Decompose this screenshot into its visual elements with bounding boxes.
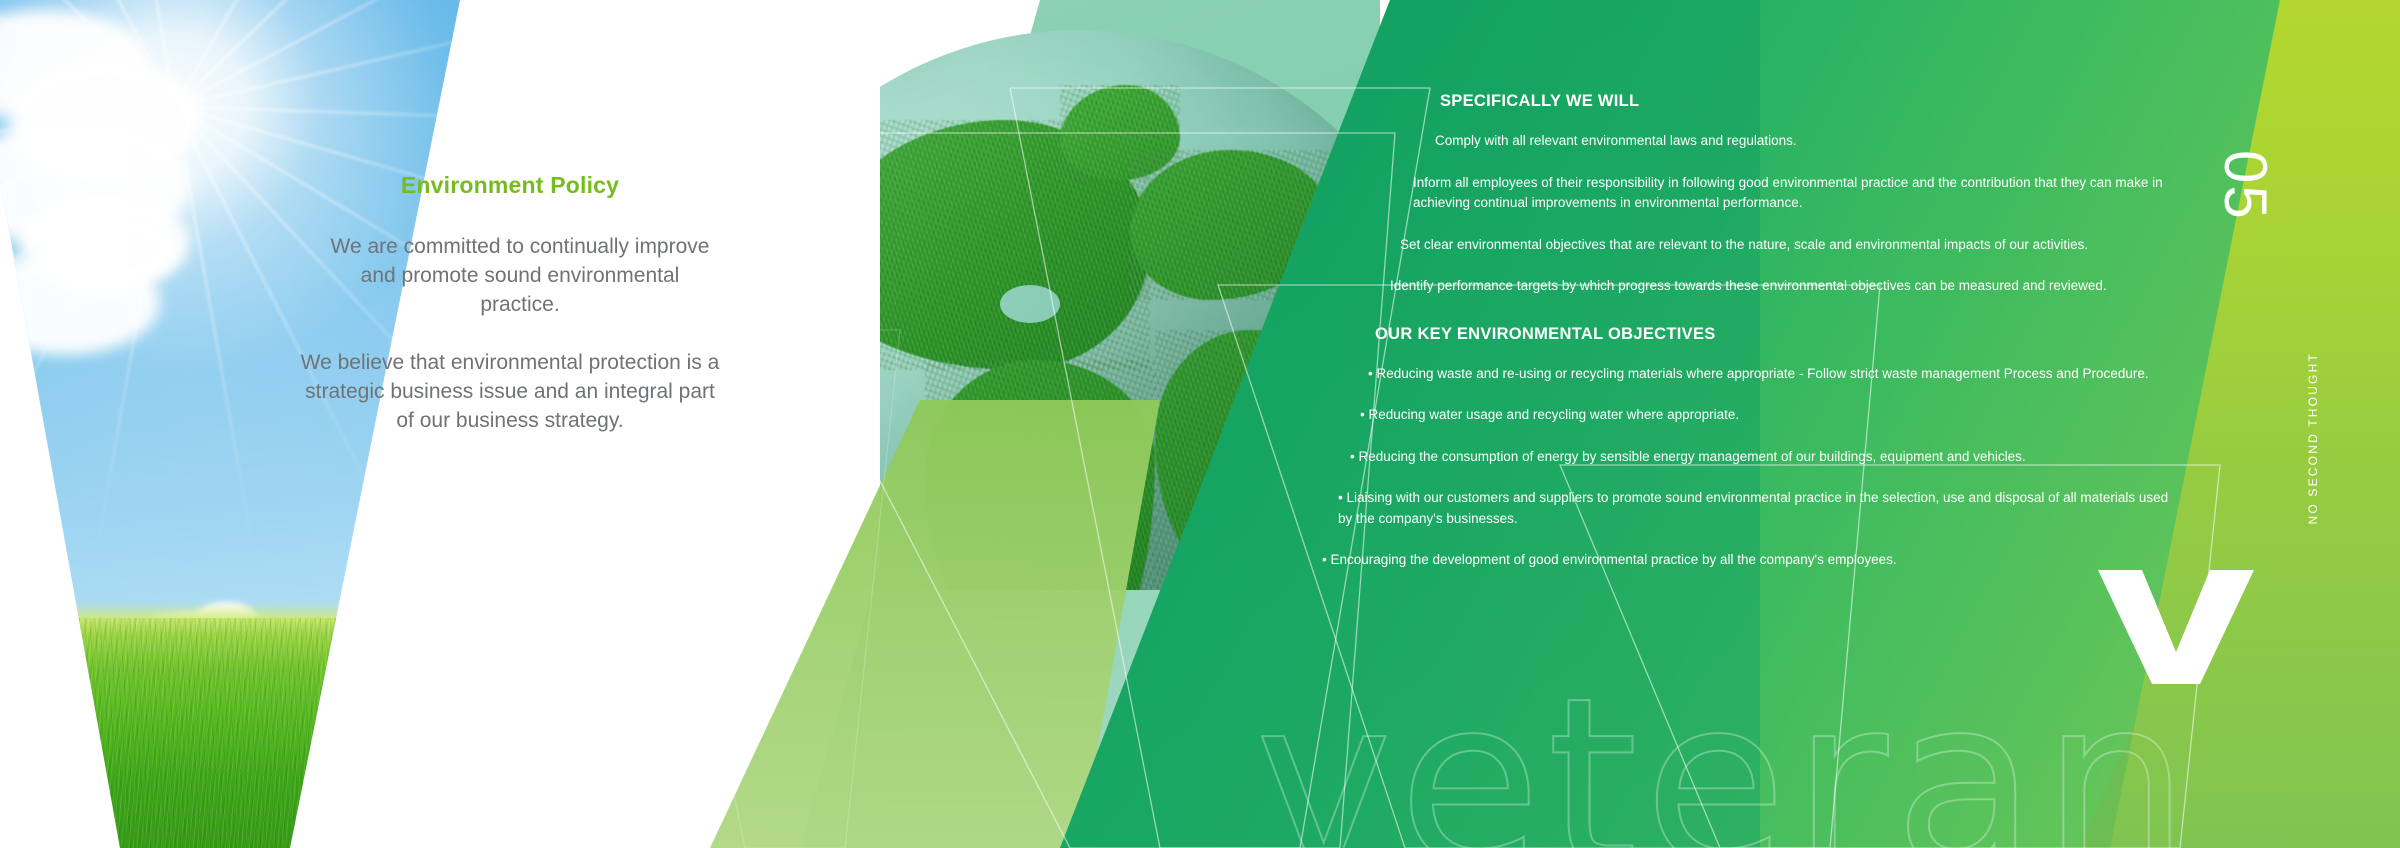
commitment-item: Inform all employees of their responsibi… [1413, 173, 2180, 214]
objective-bullet: • Reducing waste and re-using or recycli… [1368, 364, 2180, 385]
veteran-v-logo [2096, 566, 2256, 686]
section-heading-key-environmental-objectives: OUR KEY ENVIRONMENTAL OBJECTIVES [1375, 325, 2180, 344]
brochure-page: veteran Environment Policy We are commit… [0, 0, 2400, 848]
tagline-vertical: NO SECOND THOUGHT [2306, 352, 2320, 525]
objectives-block: SPECIFICALLY WE WILL Comply with all rel… [1280, 92, 2180, 592]
objective-bullet: • Encouraging the development of good en… [1322, 550, 2180, 571]
policy-paragraph-2: We believe that environmental protection… [300, 349, 720, 435]
objective-bullet: • Liaising with our customers and suppli… [1338, 488, 2180, 529]
environment-policy-block: Environment Policy We are committed to c… [300, 172, 720, 466]
commitment-item: Comply with all relevant environmental l… [1435, 131, 2180, 152]
veteran-watermark: veteran [1255, 679, 2195, 848]
policy-paragraph-1: We are committed to continually improve … [300, 233, 720, 319]
horizon-haze [0, 602, 700, 618]
page-number: 05 [2211, 150, 2280, 221]
grass-meadow [0, 618, 700, 848]
cloud-shape [55, 215, 175, 285]
page-title: Environment Policy [300, 172, 720, 199]
commitment-item: Identify performance targets by which pr… [1390, 276, 2180, 297]
objective-bullet: • Reducing the consumption of energy by … [1350, 447, 2180, 468]
section-heading-specifically-we-will: SPECIFICALLY WE WILL [1440, 92, 2180, 111]
commitment-item: Set clear environmental objectives that … [1400, 235, 2180, 256]
objective-bullet: • Reducing water usage and recycling wat… [1360, 405, 2180, 426]
